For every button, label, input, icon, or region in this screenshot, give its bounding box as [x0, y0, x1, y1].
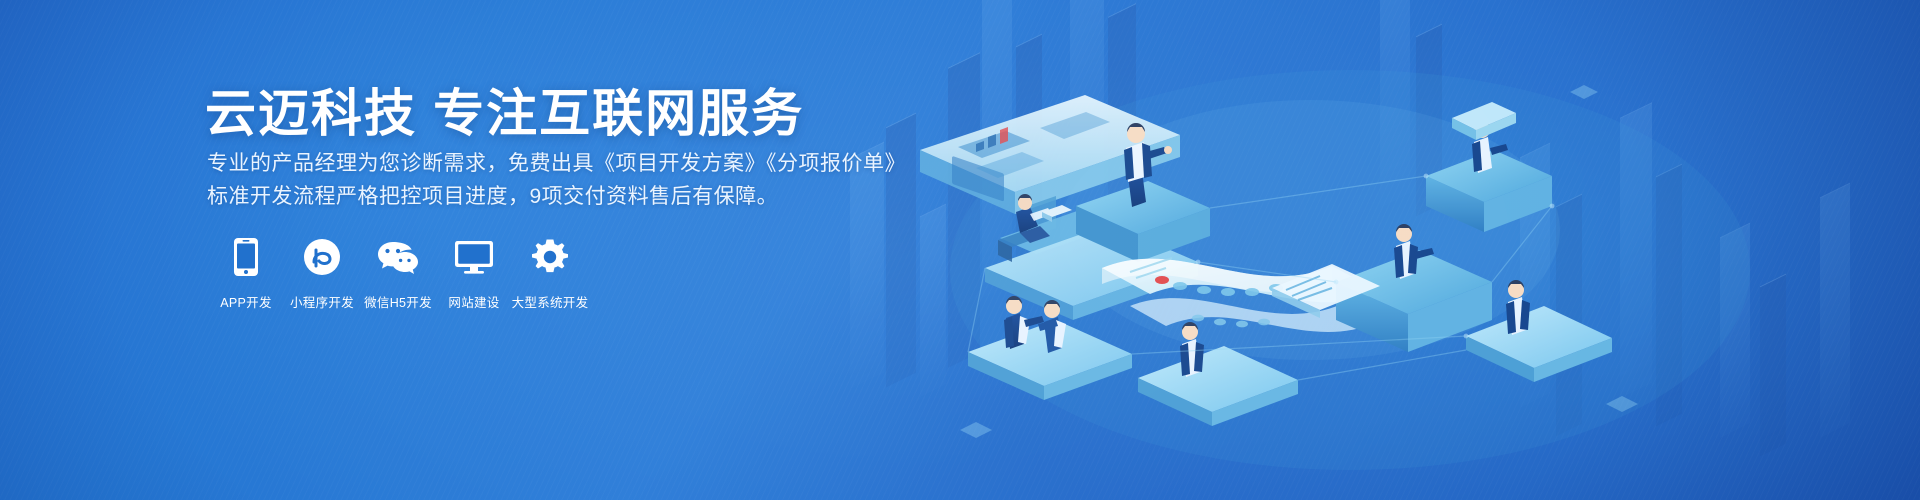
service-item-miniprogram[interactable]: 小程序开发: [285, 236, 359, 311]
service-item-app[interactable]: APP开发: [209, 236, 283, 311]
service-icon-row: APP开发 小程序开发: [209, 236, 589, 311]
page-title: 云迈科技 专注互联网服务: [205, 72, 804, 146]
service-label-system: 大型系统开发: [512, 292, 589, 311]
service-item-wechat[interactable]: 微信H5开发: [361, 236, 435, 311]
mobile-phone-icon: [225, 236, 267, 278]
service-label-miniprogram: 小程序开发: [290, 292, 354, 311]
service-label-wechat: 微信H5开发: [364, 292, 432, 311]
hero-banner: 云迈科技 专注互联网服务 专业的产品经理为您诊断需求，免费出具《项目开发方案》《…: [0, 0, 1920, 500]
service-label-app: APP开发: [220, 292, 272, 311]
monitor-icon: [453, 236, 495, 278]
gear-icon: [529, 236, 571, 278]
subtitle-line-1: 专业的产品经理为您诊断需求，免费出具《项目开发方案》《分项报价单》: [207, 147, 906, 177]
service-item-website[interactable]: 网站建设: [437, 236, 511, 311]
subtitle-line-2: 标准开发流程严格把控项目进度，9项交付资料售后有保障。: [207, 180, 778, 210]
service-item-system[interactable]: 大型系统开发: [513, 236, 587, 311]
banner-content: 云迈科技 专注互联网服务 专业的产品经理为您诊断需求，免费出具《项目开发方案》《…: [205, 0, 965, 500]
isometric-illustration: [880, 0, 1860, 500]
mini-program-icon: [301, 236, 343, 278]
wechat-icon: [377, 236, 419, 278]
service-label-website: 网站建设: [448, 292, 499, 311]
